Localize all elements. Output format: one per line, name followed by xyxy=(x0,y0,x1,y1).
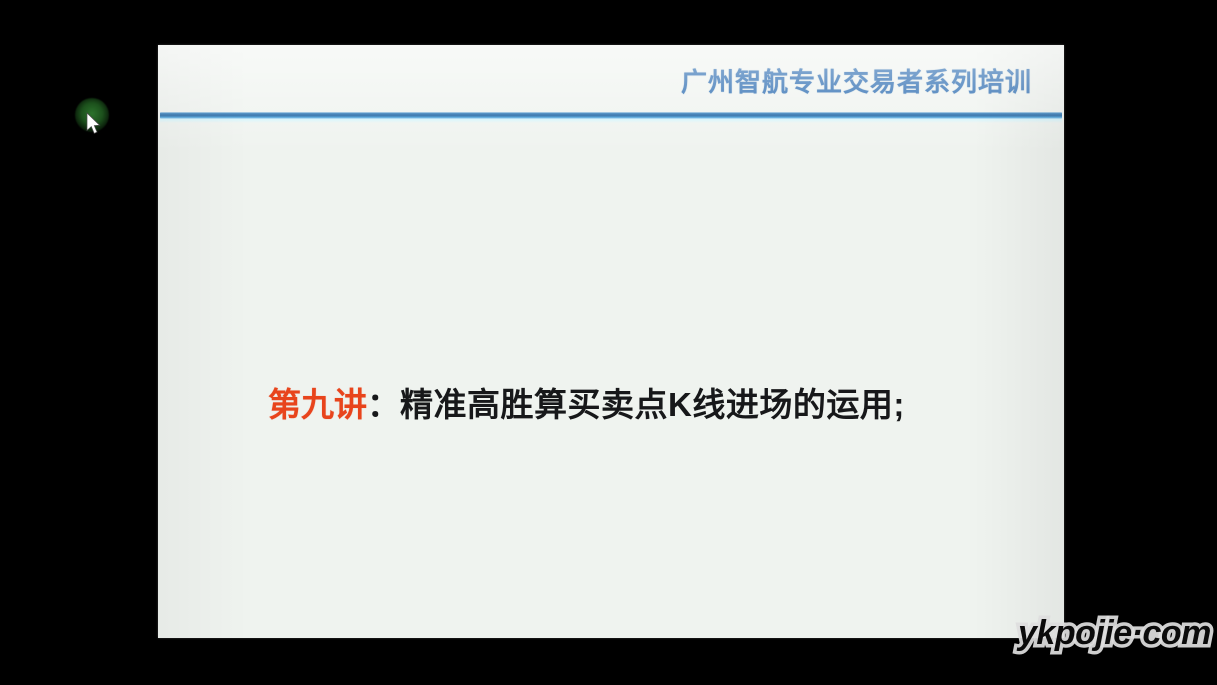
slide-header-title: 广州智航专业交易者系列培训 xyxy=(681,62,1032,99)
slide-header: 广州智航专业交易者系列培训 xyxy=(158,45,1064,118)
mouse-arrow-cursor xyxy=(86,112,102,136)
site-watermark: ykpojie·com xyxy=(1018,614,1211,653)
video-player-screen: 广州智航专业交易者系列培训 第九讲：精准高胜算买卖点K线进场的运用; ykpoj… xyxy=(0,0,1217,685)
presentation-slide: 广州智航专业交易者系列培训 第九讲：精准高胜算买卖点K线进场的运用; xyxy=(158,45,1064,638)
lesson-number: 第九讲 xyxy=(268,386,367,423)
slide-header-divider-glow xyxy=(160,119,1062,123)
slide-header-divider xyxy=(160,112,1062,119)
lesson-title-line: 第九讲：精准高胜算买卖点K线进场的运用; xyxy=(268,387,905,423)
lesson-separator: ： xyxy=(367,386,400,423)
slide-body: 第九讲：精准高胜算买卖点K线进场的运用; xyxy=(158,125,1064,638)
lesson-subject-text: 精准高胜算买卖点K线进场的运用; xyxy=(400,386,905,423)
